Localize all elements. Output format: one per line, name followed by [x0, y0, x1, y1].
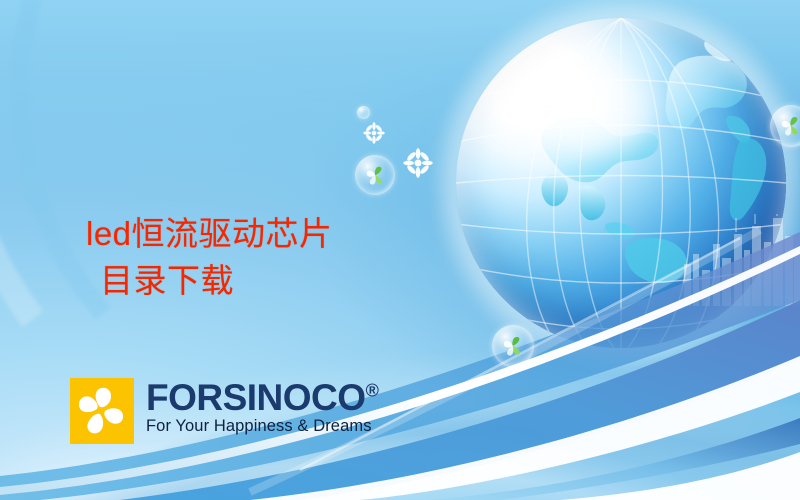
- flower-sparkle-small: [363, 122, 385, 144]
- four-petal-pinwheel-icon: [70, 378, 134, 444]
- pinwheel-icon: [779, 114, 800, 138]
- logo-brand-name: FORSINOCO®: [146, 380, 379, 416]
- bubble-pinwheel-lower: [492, 325, 534, 367]
- brand-logo[interactable]: FORSINOCO® For Your Happiness & Dreams: [70, 378, 379, 444]
- logo-brand-word: FORSINOCO: [146, 377, 366, 418]
- registered-trademark-icon: ®: [366, 381, 379, 401]
- headline-line-2: 目录下载: [86, 258, 416, 305]
- logo-text-block: FORSINOCO® For Your Happiness & Dreams: [146, 378, 379, 436]
- banner-headline: led恒流驱动芯片 目录下载: [86, 164, 416, 351]
- headline-line-1: led恒流驱动芯片: [86, 215, 333, 252]
- city-skyline-icon: [680, 214, 800, 306]
- logo-tagline: For Your Happiness & Dreams: [146, 417, 379, 436]
- pinwheel-icon: [501, 334, 525, 358]
- banner-canvas: led恒流驱动芯片 目录下载 FORSINOCO® For Your Happi…: [0, 0, 800, 500]
- bubble-small-upper: [357, 106, 370, 119]
- logo-mark: [70, 378, 134, 444]
